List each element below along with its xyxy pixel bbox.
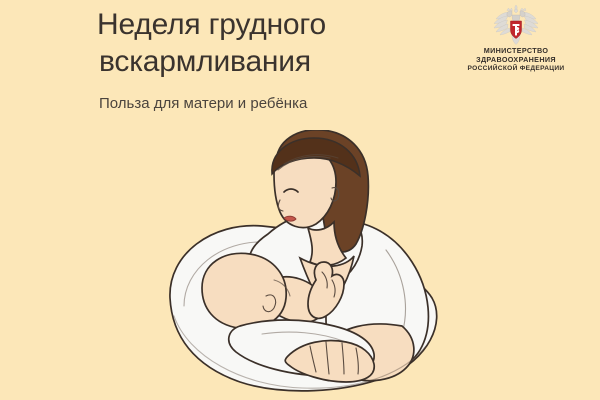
headline-block: Неделя грудного вскармливания Польза для… xyxy=(97,6,427,114)
page-subtitle: Польза для матери и ребёнка xyxy=(99,94,427,114)
ministry-logo: МИНИСТЕРСТВО ЗДРАВООХРАНЕНИЯ РОССИЙСКОЙ … xyxy=(455,4,577,73)
page-title-line-1: Неделя грудного xyxy=(97,6,427,43)
ministry-logo-line-2: ЗДРАВООХРАНЕНИЯ xyxy=(455,55,577,64)
page-title-line-2: вскармливания xyxy=(99,43,427,80)
mother-breastfeeding-baby-drawing: .ol { fill:none; stroke:#3b3029; stroke-… xyxy=(150,130,460,400)
ministry-logo-line-3: РОССИЙСКОЙ ФЕДЕРАЦИИ xyxy=(455,64,577,73)
double-headed-eagle-icon xyxy=(490,4,542,46)
mother-and-baby-illustration: .ol { fill:none; stroke:#3b3029; stroke-… xyxy=(150,130,460,400)
ministry-logo-line-1: МИНИСТЕРСТВО xyxy=(455,46,577,55)
baby-head xyxy=(202,253,286,328)
poster-canvas: Неделя грудного вскармливания Польза для… xyxy=(0,0,600,400)
